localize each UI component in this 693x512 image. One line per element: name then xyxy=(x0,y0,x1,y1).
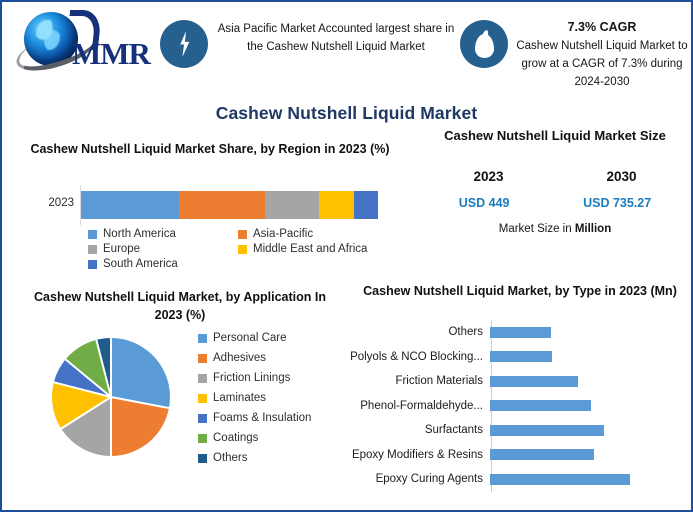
pie-slice-divider xyxy=(110,397,112,456)
type-bar-row: Epoxy Curing Agents xyxy=(350,467,686,491)
legend-label: Foams & Insulation xyxy=(213,412,311,424)
type-bar-row: Others xyxy=(350,320,686,344)
header-badge-cagr: 7.3% CAGR Cashew Nutshell Liquid Market … xyxy=(460,20,692,86)
cagr-headline: 7.3% CAGR xyxy=(512,18,692,37)
type-bar-row: Phenol-Formaldehyde... xyxy=(350,394,686,418)
chart-title-region: Cashew Nutshell Liquid Market Share, by … xyxy=(30,140,390,158)
region-segment-north-america xyxy=(81,191,179,219)
market-size-unit-prefix: Market Size in xyxy=(499,223,575,235)
region-segment-europe xyxy=(265,191,318,219)
legend-label: Europe xyxy=(103,243,140,255)
legend-label: Adhesives xyxy=(213,352,266,364)
application-legend: Personal CareAdhesivesFriction LiningsLa… xyxy=(198,332,348,472)
market-size-year-2023: 2023 xyxy=(473,169,503,184)
type-bar-label: Epoxy Curing Agents xyxy=(350,473,488,485)
flame-icon xyxy=(475,30,494,58)
region-segment-south-america xyxy=(354,191,378,219)
type-bar-label: Surfactants xyxy=(350,424,488,436)
legend-label: Personal Care xyxy=(213,332,287,344)
pie-slice-divider xyxy=(110,338,112,397)
legend-label: Coatings xyxy=(213,432,258,444)
legend-label: South America xyxy=(103,258,178,270)
badge-circle xyxy=(160,20,208,68)
legend-swatch-icon xyxy=(198,354,207,363)
type-bar-label: Others xyxy=(350,326,488,338)
legend-swatch-icon xyxy=(198,374,207,383)
legend-swatch-icon xyxy=(198,414,207,423)
market-size-unit: Market Size in Million xyxy=(422,223,688,235)
legend-item[interactable]: Foams & Insulation xyxy=(198,412,348,424)
type-bar xyxy=(490,327,551,338)
page-title: Cashew Nutshell Liquid Market xyxy=(2,103,691,124)
legend-label: Middle East and Africa xyxy=(253,243,367,255)
region-category-label: 2023 xyxy=(24,197,74,209)
legend-item[interactable]: Laminates xyxy=(198,392,348,404)
legend-item[interactable]: Coatings xyxy=(198,432,348,444)
type-bar xyxy=(490,425,604,436)
chart-application-share: Cashew Nutshell Liquid Market, by Applic… xyxy=(8,288,348,508)
legend-label: Others xyxy=(213,452,248,464)
cagr-description: Cashew Nutshell Liquid Market to grow at… xyxy=(516,40,687,88)
legend-swatch-icon xyxy=(238,230,247,239)
type-plot-area: OthersPolyols & NCO Blocking...Friction … xyxy=(350,320,686,492)
legend-swatch-icon xyxy=(198,394,207,403)
header: MMR Asia Pacific Market Accounted larges… xyxy=(2,2,691,94)
chart-title-application: Cashew Nutshell Liquid Market, by Applic… xyxy=(30,288,330,324)
legend-swatch-icon xyxy=(88,245,97,254)
infographic-page: MMR Asia Pacific Market Accounted larges… xyxy=(0,0,693,512)
type-bar-label: Polyols & NCO Blocking... xyxy=(350,351,488,363)
header-badge-asia-pacific: Asia Pacific Market Accounted largest sh… xyxy=(160,20,460,82)
legend-item[interactable]: Personal Care xyxy=(198,332,348,344)
company-logo: MMR xyxy=(16,8,151,80)
type-bar xyxy=(490,474,630,485)
legend-swatch-icon xyxy=(88,260,97,269)
legend-label: North America xyxy=(103,228,176,240)
legend-item[interactable]: South America xyxy=(88,258,238,270)
chart-type-breakdown: Cashew Nutshell Liquid Market, by Type i… xyxy=(350,282,690,508)
type-bar-row: Friction Materials xyxy=(350,369,686,393)
region-segment-asia-pacific xyxy=(179,191,265,219)
market-size-panel: Cashew Nutshell Liquid Market Size 2023 … xyxy=(422,126,688,242)
market-size-year-2030: 2030 xyxy=(606,169,636,184)
pie-slice-divider xyxy=(111,396,169,409)
application-pie xyxy=(52,338,170,456)
logo-brand-text: MMR xyxy=(72,36,150,72)
legend-swatch-icon xyxy=(198,434,207,443)
region-legend: North AmericaAsia-PacificEuropeMiddle Ea… xyxy=(88,228,388,273)
type-bar xyxy=(490,400,591,411)
legend-label: Asia-Pacific xyxy=(253,228,313,240)
type-bar xyxy=(490,376,578,387)
legend-swatch-icon xyxy=(198,454,207,463)
legend-label: Friction Linings xyxy=(213,372,290,384)
lightning-bolt-icon xyxy=(177,31,192,57)
region-stacked-bar xyxy=(81,191,378,219)
legend-item[interactable]: Asia-Pacific xyxy=(238,228,388,240)
type-bar-label: Epoxy Modifiers & Resins xyxy=(350,449,488,461)
market-size-title: Cashew Nutshell Liquid Market Size xyxy=(422,126,688,146)
market-size-values: USD 449 USD 735.27 xyxy=(422,196,688,210)
type-bar-row: Epoxy Modifiers & Resins xyxy=(350,443,686,467)
type-bar-row: Surfactants xyxy=(350,418,686,442)
type-bar xyxy=(490,351,552,362)
legend-swatch-icon xyxy=(88,230,97,239)
badge-circle xyxy=(460,20,508,68)
market-size-unit-bold: Million xyxy=(575,223,611,235)
type-bar-row: Polyols & NCO Blocking... xyxy=(350,345,686,369)
legend-item[interactable]: Europe xyxy=(88,243,238,255)
type-bar-label: Friction Materials xyxy=(350,375,488,387)
region-segment-middle-east-and-africa xyxy=(319,191,355,219)
legend-item[interactable]: North America xyxy=(88,228,238,240)
market-size-value-2023: USD 449 xyxy=(459,196,510,210)
chart-title-type: Cashew Nutshell Liquid Market, by Type i… xyxy=(360,282,680,300)
legend-item[interactable]: Middle East and Africa xyxy=(238,243,388,255)
flame-inner-icon xyxy=(466,35,474,45)
type-bar-label: Phenol-Formaldehyde... xyxy=(350,400,488,412)
legend-item[interactable]: Others xyxy=(198,452,348,464)
type-bar xyxy=(490,449,594,460)
market-size-years: 2023 2030 xyxy=(422,169,688,184)
badge-text-asia-pacific: Asia Pacific Market Accounted largest sh… xyxy=(212,21,460,57)
pie-slice-divider xyxy=(61,396,112,429)
region-plot-area xyxy=(80,185,385,225)
chart-region-share: Cashew Nutshell Liquid Market Share, by … xyxy=(10,140,410,280)
legend-item[interactable]: Adhesives xyxy=(198,352,348,364)
legend-swatch-icon xyxy=(238,245,247,254)
badge-text-cagr: 7.3% CAGR Cashew Nutshell Liquid Market … xyxy=(512,18,692,92)
legend-label: Laminates xyxy=(213,392,266,404)
legend-swatch-icon xyxy=(198,334,207,343)
legend-item[interactable]: Friction Linings xyxy=(198,372,348,384)
market-size-value-2030: USD 735.27 xyxy=(583,196,651,210)
